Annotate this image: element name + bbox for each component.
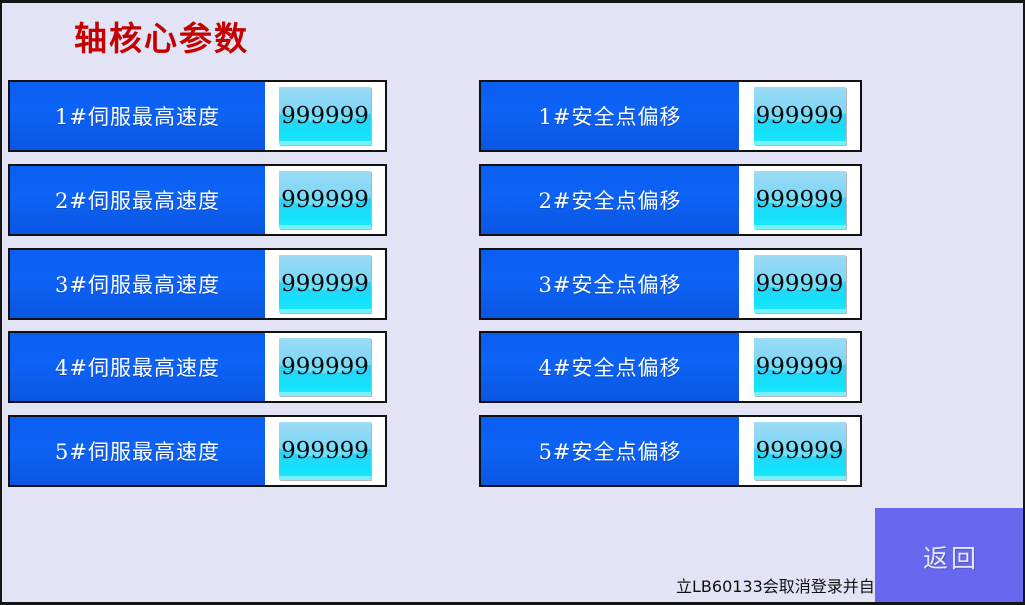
numeric-display-value: 999999 [756,354,844,380]
numeric-display[interactable]: 999999 [754,171,846,229]
param-label: 4#伺服最高速度 [10,333,265,401]
param-label: 3#安全点偏移 [481,250,739,318]
param-label: 1#伺服最高速度 [10,82,265,150]
param-value-cell[interactable]: 999999 [739,250,860,318]
param-value-cell[interactable]: 999999 [739,333,860,401]
numeric-display[interactable]: 999999 [279,255,371,313]
param-row-servo-max-speed-1[interactable]: 1#伺服最高速度 999999 [8,80,387,152]
numeric-display[interactable]: 999999 [754,87,846,145]
numeric-display-value: 999999 [281,271,369,297]
param-label: 2#伺服最高速度 [10,166,265,234]
param-label: 5#伺服最高速度 [10,417,265,485]
numeric-display[interactable]: 999999 [754,422,846,480]
return-button-label: 返回 [923,539,979,575]
param-row-safe-point-offset-4[interactable]: 4#安全点偏移 999999 [479,331,862,403]
numeric-display-value: 999999 [281,438,369,464]
status-message: 立LB60133会取消登录并自动集 [676,573,875,597]
hmi-screen: 轴核心参数 1#伺服最高速度 999999 2#伺服最高速度 999999 3#… [0,0,1025,605]
param-row-safe-point-offset-5[interactable]: 5#安全点偏移 999999 [479,415,862,487]
status-bar: 立LB60133会取消登录并自动集 [2,571,875,601]
param-label: 5#安全点偏移 [481,417,739,485]
param-value-cell[interactable]: 999999 [265,250,385,318]
param-value-cell[interactable]: 999999 [739,417,860,485]
numeric-display[interactable]: 999999 [754,255,846,313]
param-label: 3#伺服最高速度 [10,250,265,318]
numeric-display[interactable]: 999999 [279,422,371,480]
param-value-cell[interactable]: 999999 [265,417,385,485]
param-row-servo-max-speed-3[interactable]: 3#伺服最高速度 999999 [8,248,387,320]
param-row-servo-max-speed-4[interactable]: 4#伺服最高速度 999999 [8,331,387,403]
param-label: 4#安全点偏移 [481,333,739,401]
numeric-display[interactable]: 999999 [279,171,371,229]
numeric-display-value: 999999 [281,354,369,380]
param-row-safe-point-offset-3[interactable]: 3#安全点偏移 999999 [479,248,862,320]
param-value-cell[interactable]: 999999 [265,166,385,234]
numeric-display-value: 999999 [756,271,844,297]
param-row-servo-max-speed-2[interactable]: 2#伺服最高速度 999999 [8,164,387,236]
numeric-display[interactable]: 999999 [279,338,371,396]
param-row-servo-max-speed-5[interactable]: 5#伺服最高速度 999999 [8,415,387,487]
param-value-cell[interactable]: 999999 [265,82,385,150]
param-label: 2#安全点偏移 [481,166,739,234]
numeric-display-value: 999999 [281,103,369,129]
page-title: 轴核心参数 [74,17,249,61]
numeric-display[interactable]: 999999 [754,338,846,396]
numeric-display-value: 999999 [756,103,844,129]
param-value-cell[interactable]: 999999 [739,166,860,234]
numeric-display[interactable]: 999999 [279,87,371,145]
param-row-safe-point-offset-1[interactable]: 1#安全点偏移 999999 [479,80,862,152]
return-button[interactable]: 返回 [875,508,1025,605]
param-value-cell[interactable]: 999999 [739,82,860,150]
param-row-safe-point-offset-2[interactable]: 2#安全点偏移 999999 [479,164,862,236]
numeric-display-value: 999999 [756,187,844,213]
numeric-display-value: 999999 [281,187,369,213]
numeric-display-value: 999999 [756,438,844,464]
param-label: 1#安全点偏移 [481,82,739,150]
param-value-cell[interactable]: 999999 [265,333,385,401]
